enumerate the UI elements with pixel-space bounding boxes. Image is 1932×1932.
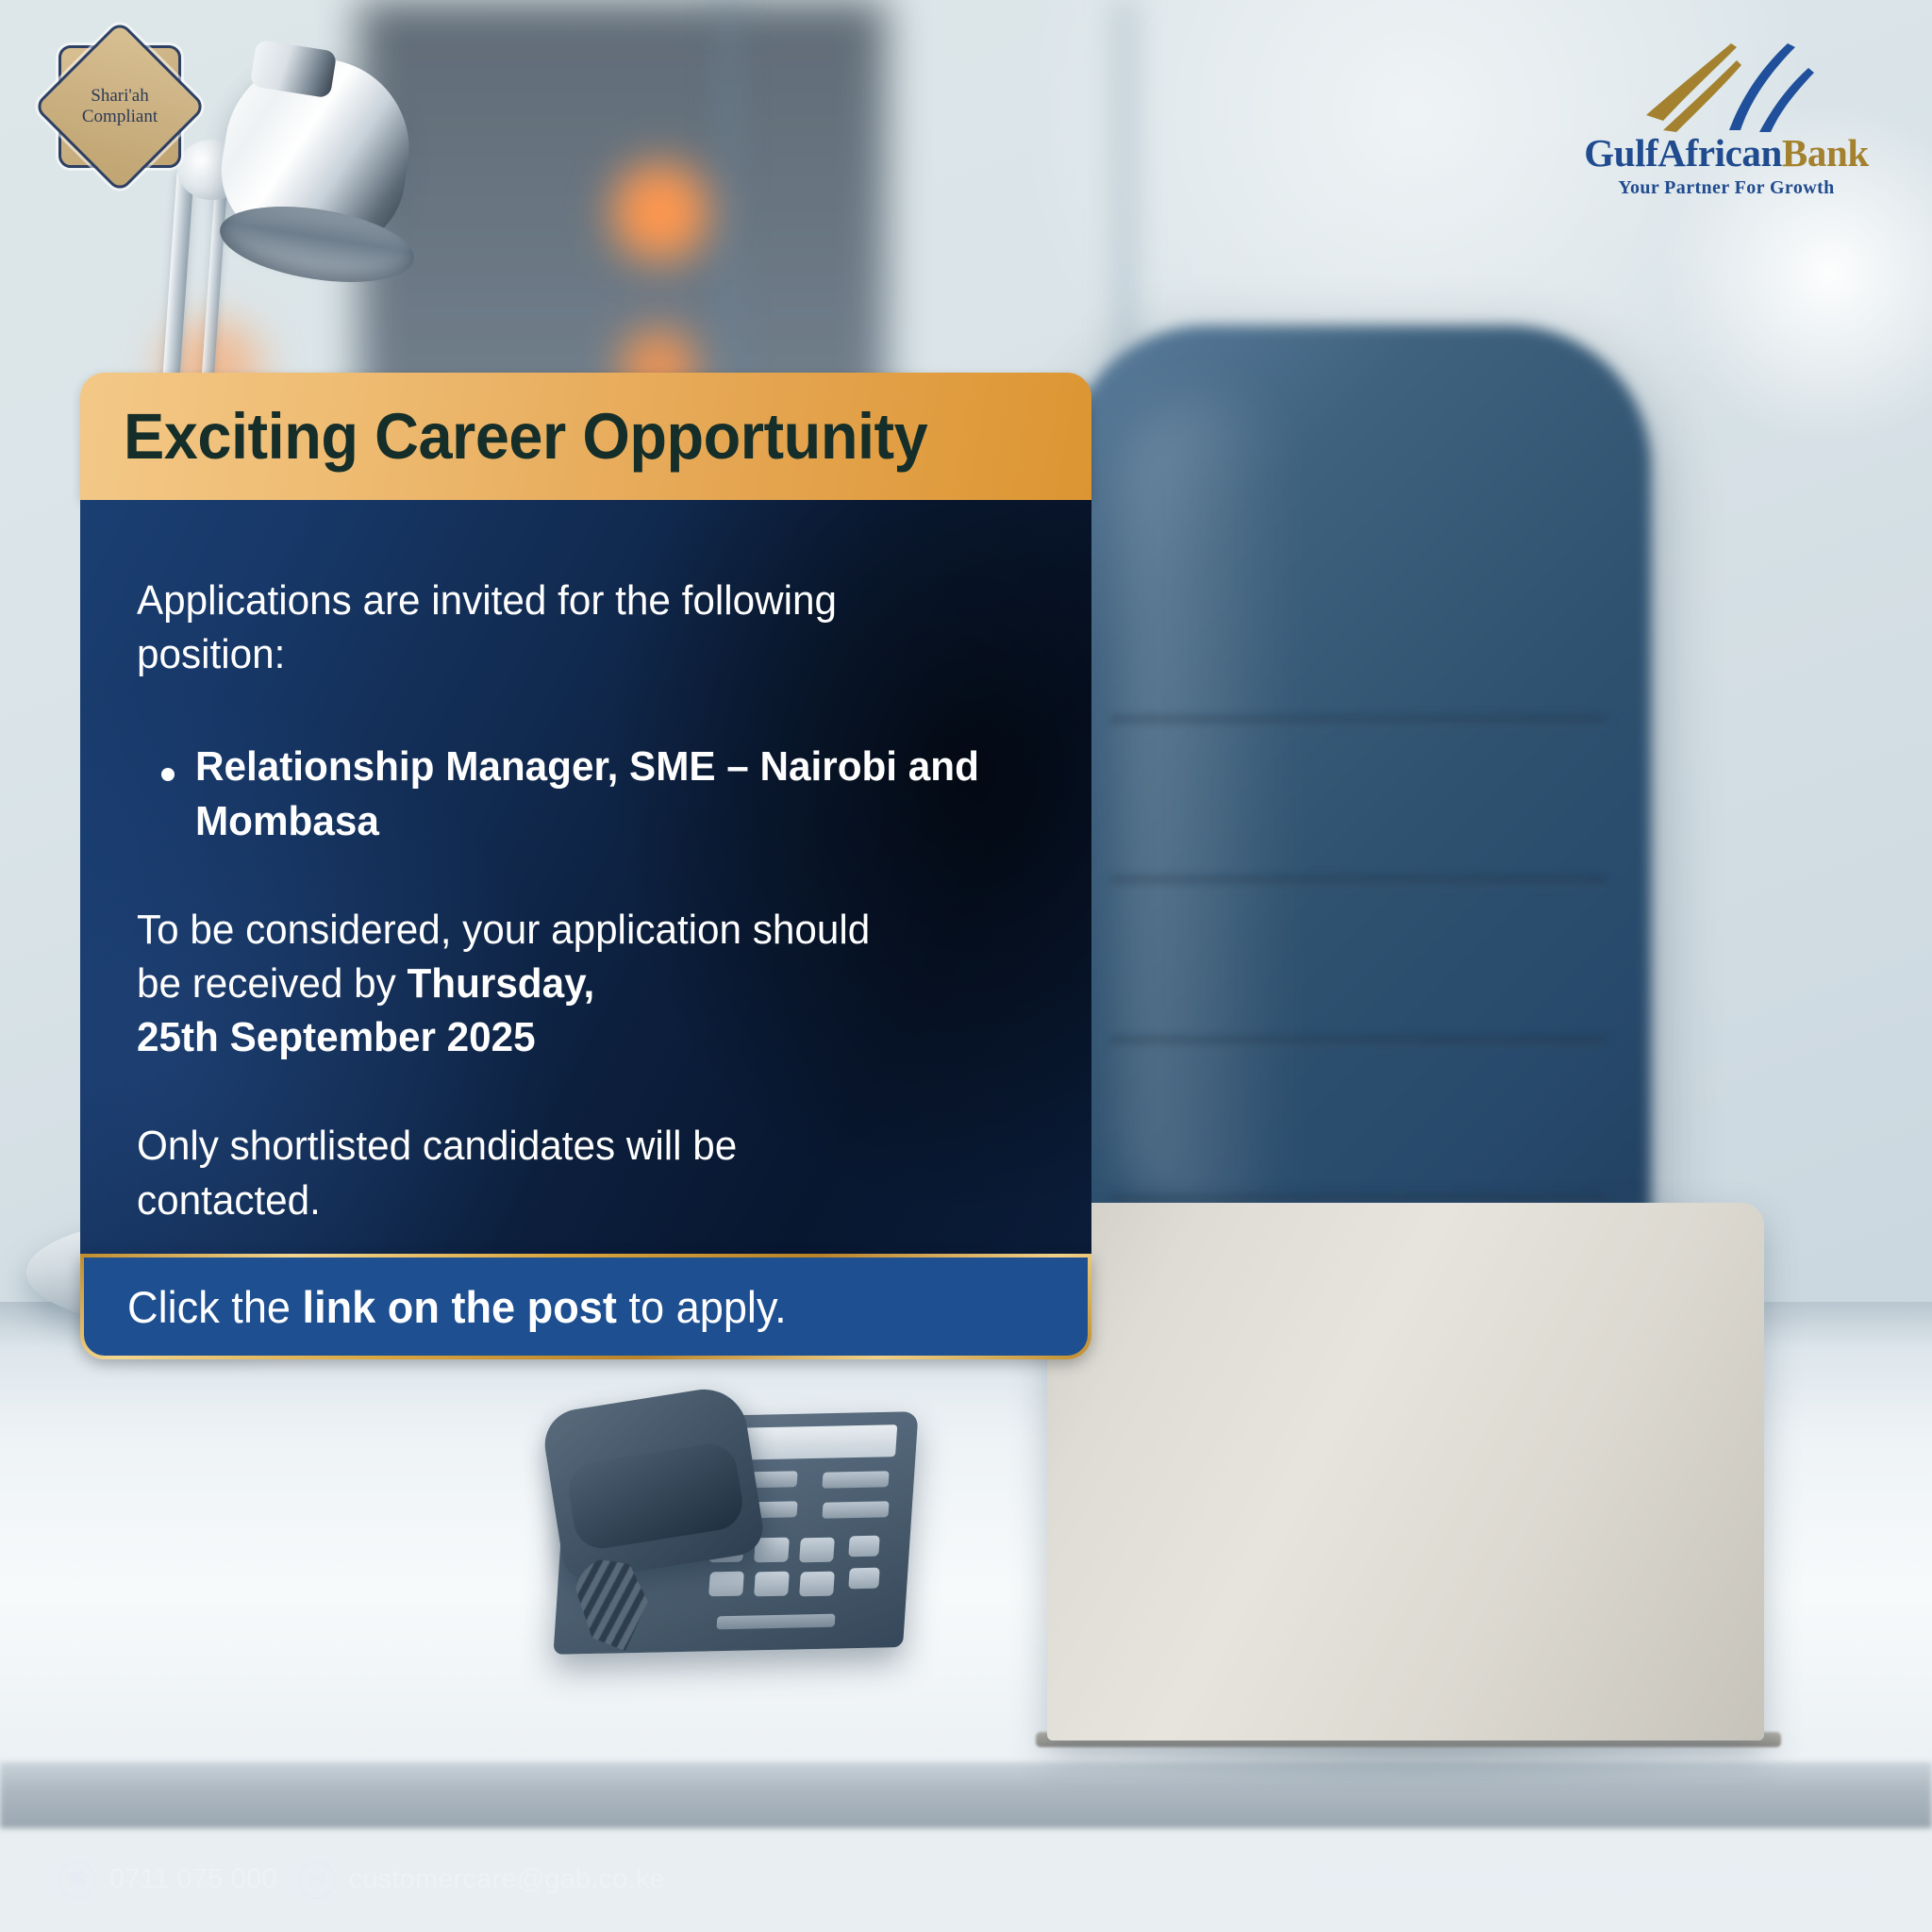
- intro-paragraph: Applications are invited for the followi…: [137, 574, 999, 681]
- logo-word-secondary: Bank: [1782, 131, 1869, 175]
- footer-email-address: customercare@gab.co.ke: [349, 1864, 665, 1895]
- bokeh-light-upper: [604, 142, 717, 283]
- footer-email[interactable]: ✉ customercare@gab.co.ke: [298, 1861, 665, 1899]
- logo-tagline: Your Partner For Growth: [1552, 177, 1901, 199]
- phone-keypad-key: [799, 1538, 835, 1563]
- logo-word-primary: GulfAfrican: [1584, 131, 1782, 175]
- shariah-compliant-badge: Shari'ah Compliant: [58, 45, 181, 168]
- footer-phone[interactable]: ☎ 0711 075 000: [58, 1861, 277, 1899]
- phone-softkey-4: [822, 1501, 889, 1518]
- cta-bold: link on the post: [303, 1282, 617, 1332]
- shariah-badge-text: Shari'ah Compliant: [58, 45, 181, 168]
- position-title: Relationship Manager, SME – Nairobi and …: [195, 740, 1001, 847]
- contact-footer: ☎ 0711 075 000 ✉ customercare@gab.co.ke …: [0, 1827, 1932, 1932]
- phone-keypad-key: [754, 1572, 790, 1597]
- gulf-african-bank-logo: GulfAfricanBank Your Partner For Growth: [1552, 40, 1901, 191]
- card-body: Applications are invited for the followi…: [80, 500, 1091, 1255]
- cta-suffix: to apply.: [617, 1282, 787, 1332]
- bullet-dot-icon: [161, 768, 175, 781]
- phone-keypad-key: [708, 1572, 744, 1597]
- shariah-badge-line1: Shari'ah: [91, 86, 148, 107]
- apply-cta-bar[interactable]: Click the link on the post to apply.: [80, 1254, 1091, 1359]
- phone-icon: ☎: [58, 1861, 96, 1899]
- shortlist-line-1: Only shortlisted candidates will be: [137, 1123, 737, 1169]
- phone-function-key: [848, 1568, 880, 1590]
- deadline-day: Thursday,: [407, 960, 594, 1007]
- gulf-african-bank-swoosh-mark: [1639, 40, 1818, 132]
- cta-prefix: Click the: [127, 1282, 303, 1332]
- logo-wordmark: GulfAfricanBank: [1552, 130, 1901, 175]
- footer-phone-number: 0711 075 000: [109, 1864, 277, 1895]
- chair-seam-1: [1108, 717, 1608, 726]
- apply-cta-text: Click the link on the post to apply.: [127, 1281, 787, 1333]
- laptop-lid: [1047, 1203, 1764, 1740]
- footer-contacts: ☎ 0711 075 000 ✉ customercare@gab.co.ke: [58, 1861, 665, 1899]
- laptop-shadow: [1028, 1741, 1802, 1785]
- chair-seam-2: [1108, 877, 1608, 887]
- envelope-icon: ✉: [298, 1861, 336, 1899]
- shortlist-line-2: contacted.: [137, 1177, 321, 1224]
- desk-phone-display: [730, 1424, 898, 1460]
- shariah-badge-line2: Compliant: [82, 107, 158, 127]
- phone-function-key: [848, 1536, 880, 1557]
- intro-line-2: position:: [137, 631, 285, 677]
- phone-softkey-2: [822, 1471, 889, 1488]
- chair-highlight: [1123, 396, 1292, 1226]
- phone-keypad-key: [799, 1572, 835, 1597]
- deadline-date: 25th September 2025: [137, 1014, 536, 1060]
- intro-line-1: Applications are invited for the followi…: [137, 577, 837, 624]
- deadline-paragraph: To be considered, your application shoul…: [137, 903, 999, 1065]
- deadline-line-1: To be considered, your application shoul…: [137, 907, 870, 953]
- shortlist-note: Only shortlisted candidates will be cont…: [137, 1119, 999, 1226]
- page-title: Exciting Career Opportunity: [124, 399, 927, 474]
- deadline-line-2: be received by: [137, 960, 407, 1007]
- position-list-item: Relationship Manager, SME – Nairobi and …: [137, 740, 1035, 847]
- regulator-note: Gulf African Bank is Regulated by the Ce…: [1310, 1867, 1874, 1892]
- career-opportunity-card: Exciting Career Opportunity Applications…: [80, 373, 1091, 1410]
- card-header-banner: Exciting Career Opportunity: [80, 373, 1091, 500]
- phone-speaker-grille: [716, 1614, 835, 1630]
- chair-seam-3: [1108, 1038, 1608, 1047]
